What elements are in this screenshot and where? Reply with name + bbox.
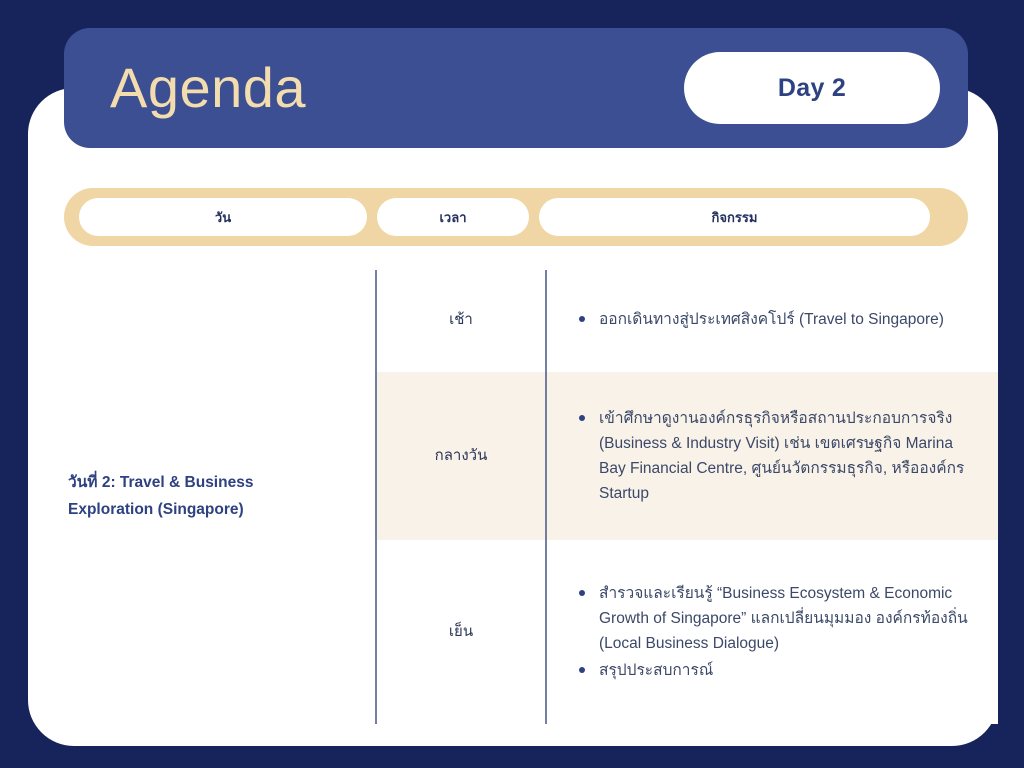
- day-badge-label: Day 2: [778, 74, 846, 103]
- activity-list-3: สำรวจและเรียนรู้ “Business Ecosystem & E…: [575, 581, 976, 683]
- activity-list-1: ออกเดินทางสู่ประเทศสิงคโปร์ (Travel to S…: [575, 307, 976, 332]
- day-cell: วันที่ 2: Travel & Business Exploration …: [28, 268, 375, 724]
- column-header-day: วัน: [79, 198, 367, 236]
- list-item: เข้าศึกษาดูงานองค์กรธุรกิจหรือสถานประกอบ…: [575, 406, 976, 506]
- time-cell-3-label: เย็น: [449, 620, 473, 644]
- activity-cell-3: สำรวจและเรียนรู้ “Business Ecosystem & E…: [547, 540, 998, 724]
- slide-header-band: Agenda Day 2: [64, 28, 968, 148]
- day-cell-label: วันที่ 2: Travel & Business Exploration …: [68, 469, 335, 523]
- column-header-bar: วัน เวลา กิจกรรม: [64, 188, 968, 246]
- activity-cell-2: เข้าศึกษาดูงานองค์กรธุรกิจหรือสถานประกอบ…: [547, 372, 998, 540]
- column-header-activity: กิจกรรม: [539, 198, 930, 236]
- page-title: Agenda: [110, 60, 306, 116]
- activity-cell-1: ออกเดินทางสู่ประเทศสิงคโปร์ (Travel to S…: [547, 268, 998, 372]
- list-item: สำรวจและเรียนรู้ “Business Ecosystem & E…: [575, 581, 976, 656]
- activity-list-2: เข้าศึกษาดูงานองค์กรธุรกิจหรือสถานประกอบ…: [575, 406, 976, 506]
- time-cell-1-label: เช้า: [449, 308, 473, 332]
- column-header-time: เวลา: [377, 198, 529, 236]
- column-header-day-label: วัน: [215, 207, 231, 228]
- column-header-time-label: เวลา: [439, 207, 466, 228]
- column-header-activity-label: กิจกรรม: [712, 207, 758, 228]
- time-cell-2-label: กลางวัน: [435, 444, 488, 468]
- time-cell-2: กลางวัน: [377, 372, 545, 540]
- time-cell-3: เย็น: [377, 540, 545, 724]
- slide-root: Agenda Day 2 วัน เวลา กิจกรรม วันที่ 2: …: [0, 0, 1024, 768]
- day-badge[interactable]: Day 2: [684, 52, 940, 124]
- list-item: สรุปประสบการณ์: [575, 658, 976, 683]
- time-cell-1: เช้า: [377, 268, 545, 372]
- list-item: ออกเดินทางสู่ประเทศสิงคโปร์ (Travel to S…: [575, 307, 976, 332]
- agenda-table: วันที่ 2: Travel & Business Exploration …: [28, 268, 998, 724]
